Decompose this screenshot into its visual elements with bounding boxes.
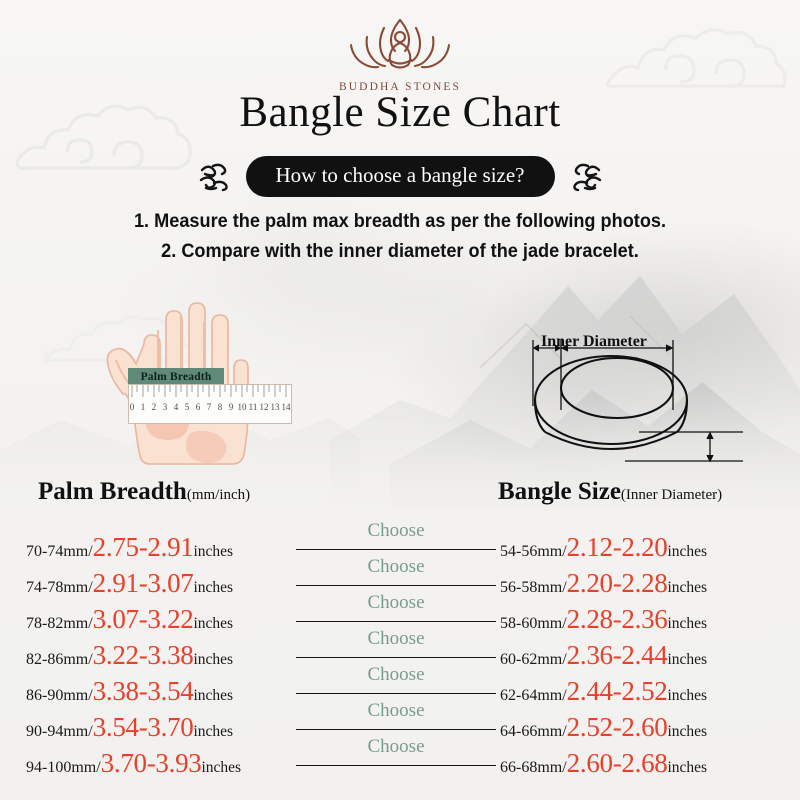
choose-underline (296, 585, 496, 586)
choose-button[interactable]: Choose (296, 522, 496, 556)
size-mm: 74-78mm/ (26, 579, 93, 597)
palm-breadth-cell: 82-86mm/3.22-3.38inches (26, 640, 294, 671)
choose-label: Choose (296, 664, 496, 686)
table-row: 74-78mm/2.91-3.07inchesChoose56-58mm/2.2… (0, 558, 800, 594)
ruler-icon: 01234567891011121314 (128, 384, 292, 424)
size-unit: inches (667, 543, 707, 561)
size-inch: 2.91-3.07 (93, 568, 194, 599)
size-inch: 2.75-2.91 (93, 532, 194, 563)
choose-underline (296, 729, 496, 730)
size-unit: inches (193, 687, 233, 705)
size-rows: 70-74mm/2.75-2.91inchesChoose54-56mm/2.1… (0, 522, 800, 774)
choose-button[interactable]: Choose (296, 666, 496, 700)
size-mm: 54-56mm/ (500, 543, 567, 561)
cloud-scroll-ornament-icon (198, 161, 232, 193)
ruler-tick-label: 9 (229, 402, 234, 412)
size-inch: 2.12-2.20 (567, 532, 668, 563)
choose-label: Choose (296, 520, 496, 542)
choose-label: Choose (296, 700, 496, 722)
size-inch: 2.36-2.44 (567, 640, 668, 671)
page-title: Bangle Size Chart (0, 88, 800, 137)
ruler-tick-label: 5 (185, 402, 190, 412)
size-mm: 90-94mm/ (26, 723, 93, 741)
ruler-tick-label: 0 (130, 402, 135, 412)
brand-logo: BUDDHA STONES (0, 12, 800, 93)
table-row: 86-90mm/3.38-3.54inchesChoose62-64mm/2.4… (0, 666, 800, 702)
ruler-tick-label: 14 (282, 402, 292, 412)
choose-underline (296, 765, 496, 766)
size-mm: 78-82mm/ (26, 615, 93, 633)
banner-question: How to choose a bangle size? (246, 156, 555, 197)
size-unit: inches (667, 687, 707, 705)
palm-breadth-heading: Palm Breadth(mm/inch) (38, 478, 250, 506)
instructions: 1. Measure the palm max breadth as per t… (0, 207, 800, 266)
size-unit: inches (193, 651, 233, 669)
choose-button[interactable]: Choose (296, 558, 496, 592)
choose-label: Choose (296, 556, 496, 578)
bangle-size-heading: Bangle Size(Inner Diameter) (498, 478, 722, 506)
lotus-meditation-icon (337, 12, 463, 74)
size-inch: 3.38-3.54 (93, 676, 194, 707)
ruler-tick-label: 13 (271, 402, 281, 412)
ruler-tick-label: 4 (174, 402, 179, 412)
palm-breadth-cell: 86-90mm/3.38-3.54inches (26, 676, 294, 707)
size-inch: 3.22-3.38 (93, 640, 194, 671)
ruler-tick-label: 3 (163, 402, 168, 412)
size-unit: inches (201, 759, 241, 777)
size-inch: 2.60-2.68 (567, 748, 668, 779)
size-inch: 3.70-3.93 (101, 748, 202, 779)
size-mm: 64-66mm/ (500, 723, 567, 741)
size-unit: inches (193, 543, 233, 561)
size-mm: 60-62mm/ (500, 651, 567, 669)
ruler-tick-label: 7 (207, 402, 212, 412)
choose-button[interactable]: Choose (296, 738, 496, 772)
bangle-size-cell: 54-56mm/2.12-2.20inches (500, 532, 782, 563)
palm-breadth-cell: 78-82mm/3.07-3.22inches (26, 604, 294, 635)
size-unit: inches (667, 579, 707, 597)
size-inch: 2.20-2.28 (567, 568, 668, 599)
size-unit: inches (193, 723, 233, 741)
choose-label: Choose (296, 592, 496, 614)
choose-button[interactable]: Choose (296, 630, 496, 664)
choose-underline (296, 693, 496, 694)
table-row: 90-94mm/3.54-3.70inchesChoose64-66mm/2.5… (0, 702, 800, 738)
choose-label: Choose (296, 736, 496, 758)
bangle-size-cell: 62-64mm/2.44-2.52inches (500, 676, 782, 707)
size-mm: 82-86mm/ (26, 651, 93, 669)
ruler-tick-label: 10 (238, 402, 248, 412)
ruler-tick-label: 12 (260, 402, 269, 412)
ruler-tick-label: 11 (249, 402, 258, 412)
choose-underline (296, 549, 496, 550)
size-inch: 3.07-3.22 (93, 604, 194, 635)
choose-underline (296, 621, 496, 622)
size-inch: 3.54-3.70 (93, 712, 194, 743)
size-inch: 2.28-2.36 (567, 604, 668, 635)
banner-row: How to choose a bangle size? (0, 156, 800, 197)
bangle-ring-diagram (505, 328, 755, 473)
bangle-size-heading-main: Bangle Size (498, 478, 621, 505)
size-inch: 2.52-2.60 (567, 712, 668, 743)
choose-button[interactable]: Choose (296, 594, 496, 628)
size-unit: inches (667, 651, 707, 669)
ruler-tick-label: 1 (141, 402, 146, 412)
ruler-tick-label: 8 (218, 402, 223, 412)
table-row: 70-74mm/2.75-2.91inchesChoose54-56mm/2.1… (0, 522, 800, 558)
size-mm: 62-64mm/ (500, 687, 567, 705)
palm-breadth-cell: 74-78mm/2.91-3.07inches (26, 568, 294, 599)
size-unit: inches (667, 759, 707, 777)
bangle-size-cell: 58-60mm/2.28-2.36inches (500, 604, 782, 635)
table-row: 82-86mm/3.22-3.38inchesChoose60-62mm/2.3… (0, 630, 800, 666)
size-unit: inches (667, 723, 707, 741)
size-unit: inches (193, 579, 233, 597)
bangle-size-cell: 66-68mm/2.60-2.68inches (500, 748, 782, 779)
size-mm: 70-74mm/ (26, 543, 93, 561)
choose-button[interactable]: Choose (296, 702, 496, 736)
cloud-scroll-ornament-icon (569, 161, 603, 193)
table-row: 94-100mm/3.70-3.93inchesChoose66-68mm/2.… (0, 738, 800, 774)
size-mm: 86-90mm/ (26, 687, 93, 705)
size-mm: 58-60mm/ (500, 615, 567, 633)
size-unit: inches (193, 615, 233, 633)
palm-breadth-cell: 90-94mm/3.54-3.70inches (26, 712, 294, 743)
ruler-tick-label: 6 (196, 402, 201, 412)
bangle-size-cell: 64-66mm/2.52-2.60inches (500, 712, 782, 743)
size-mm: 94-100mm/ (26, 759, 101, 777)
palm-breadth-heading-sub: (mm/inch) (187, 487, 250, 503)
size-chart-page: BUDDHA STONES Bangle Size Chart How to c… (0, 0, 800, 800)
instruction-line-2: 2. Compare with the inner diameter of th… (28, 237, 772, 267)
size-mm: 56-58mm/ (500, 579, 567, 597)
palm-breadth-heading-main: Palm Breadth (38, 478, 187, 505)
palm-breadth-cell: 94-100mm/3.70-3.93inches (26, 748, 294, 779)
instruction-line-1: 1. Measure the palm max breadth as per t… (28, 207, 772, 237)
palm-breadth-cell: 70-74mm/2.75-2.91inches (26, 532, 294, 563)
choose-label: Choose (296, 628, 496, 650)
bangle-size-heading-sub: (Inner Diameter) (621, 487, 722, 503)
ruler-tick-label: 2 (152, 402, 157, 412)
choose-underline (296, 657, 496, 658)
size-mm: 66-68mm/ (500, 759, 567, 777)
size-inch: 2.44-2.52 (567, 676, 668, 707)
table-row: 78-82mm/3.07-3.22inchesChoose58-60mm/2.2… (0, 594, 800, 630)
bangle-size-cell: 56-58mm/2.20-2.28inches (500, 568, 782, 599)
size-unit: inches (667, 615, 707, 633)
bangle-size-cell: 60-62mm/2.36-2.44inches (500, 640, 782, 671)
